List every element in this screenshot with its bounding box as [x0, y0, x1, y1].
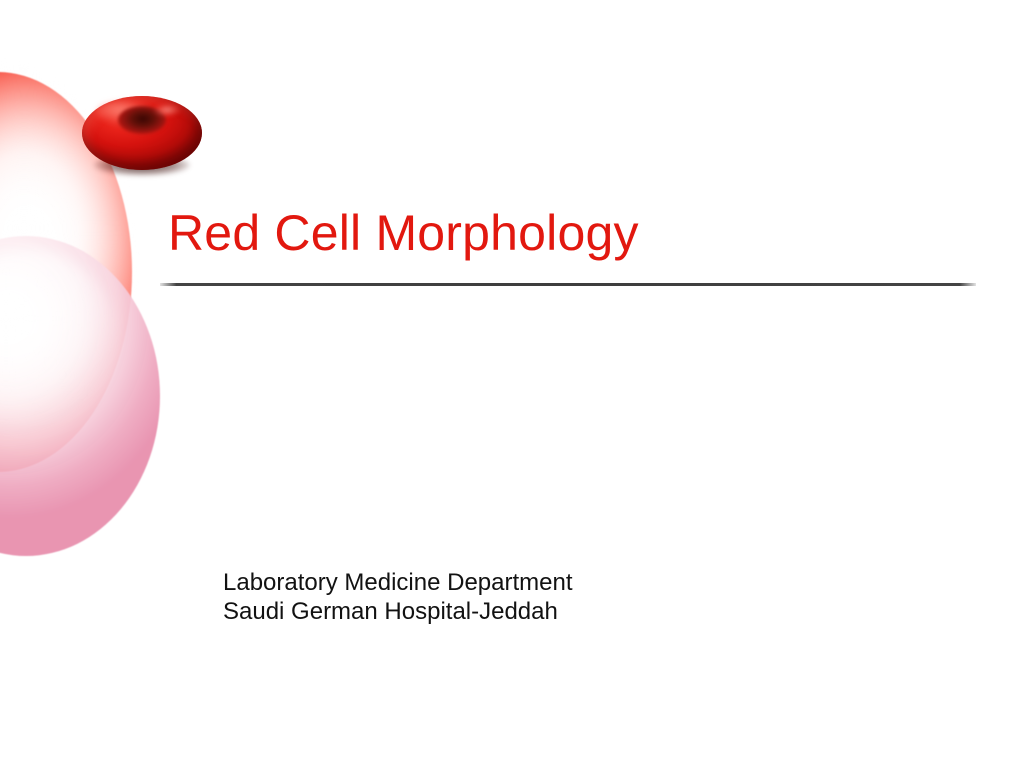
sphere-highlight-glow — [0, 250, 120, 440]
slide-subtitle: Laboratory Medicine Department Saudi Ger… — [223, 568, 573, 626]
presentation-slide: Red Cell Morphology Laboratory Medicine … — [0, 0, 1024, 768]
title-divider-rule — [160, 283, 976, 286]
pink-gradient-sphere — [0, 236, 160, 556]
subtitle-line-hospital: Saudi German Hospital-Jeddah — [223, 597, 573, 626]
red-blood-cell-specular-highlight — [154, 104, 180, 116]
subtitle-line-department: Laboratory Medicine Department — [223, 568, 573, 597]
slide-title: Red Cell Morphology — [168, 203, 639, 263]
red-blood-cell-icon — [80, 92, 204, 178]
